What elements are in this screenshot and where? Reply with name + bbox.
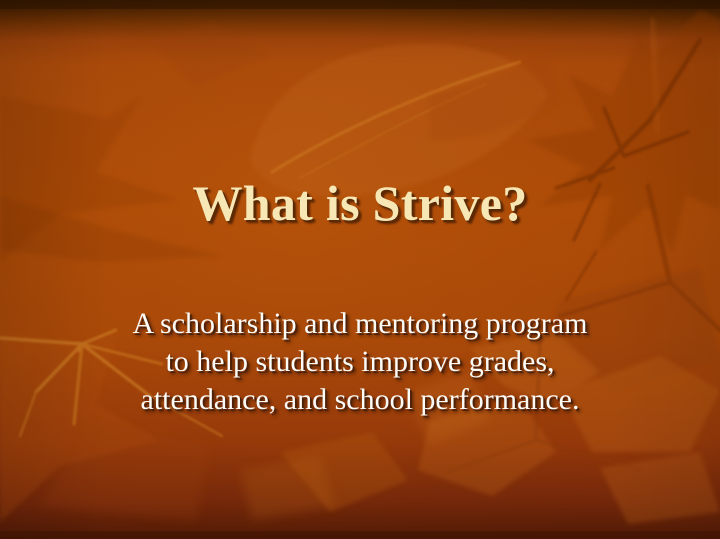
page-title: What is Strive? xyxy=(0,176,720,230)
body-line: attendance, and school performance. xyxy=(0,381,720,419)
body-line: A scholarship and mentoring program xyxy=(0,305,720,343)
presentation-slide: What is Strive? A scholarship and mentor… xyxy=(0,0,720,539)
slide-body-text: A scholarship and mentoring program to h… xyxy=(0,305,720,419)
body-line: to help students improve grades, xyxy=(0,343,720,381)
slide-content: What is Strive? A scholarship and mentor… xyxy=(0,0,720,539)
